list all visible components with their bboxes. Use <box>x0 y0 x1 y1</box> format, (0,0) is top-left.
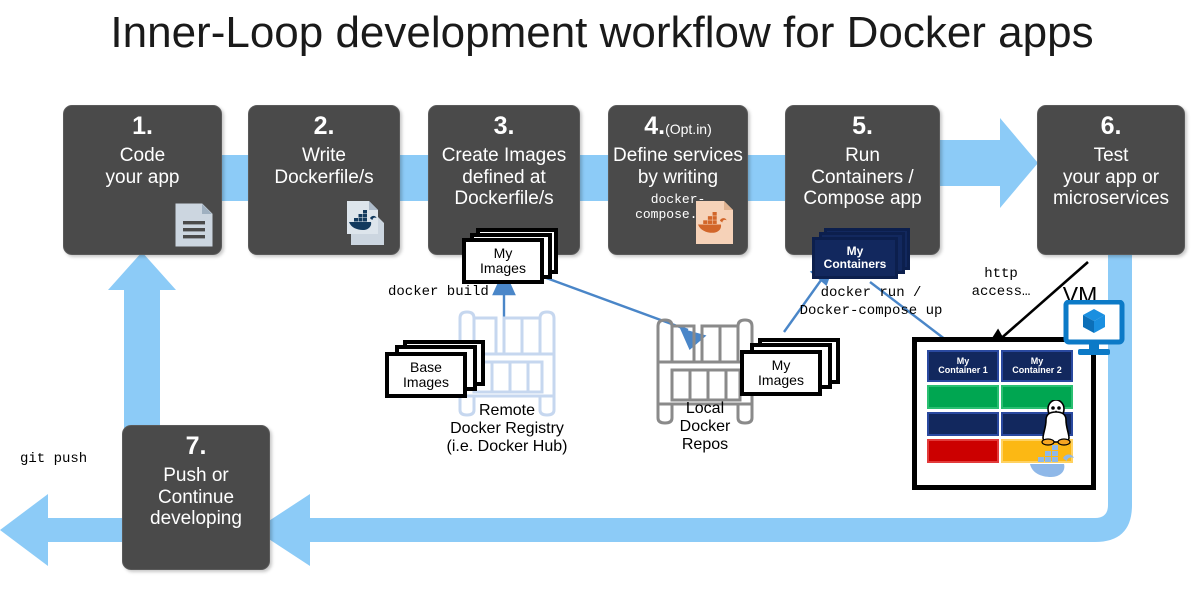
local-repos-label: Local Docker Repos <box>650 400 760 454</box>
step-7-line-2: Continue <box>150 487 242 508</box>
my-images-local-line-1: My <box>758 358 804 373</box>
my-images-top-line-1: My <box>480 246 526 261</box>
step-1-line-1: Code <box>106 145 180 166</box>
local-repos-line-3: Repos <box>650 436 760 454</box>
http-access-label: http access… <box>955 265 1047 301</box>
vm-container-1-bar-1 <box>927 385 999 409</box>
connector-git-push-arrow <box>0 494 125 566</box>
step-3-line-2: defined at <box>442 167 567 188</box>
step-3-body: Create Images defined at Dockerfile/s <box>442 145 567 209</box>
step-box-2[interactable]: 2. Write Dockerfile/s <box>248 105 400 255</box>
my-containers-line-2: Containers <box>824 258 887 271</box>
base-images-label: Base Images <box>385 352 467 398</box>
step-box-7[interactable]: 7. Push or Continue developing <box>122 425 270 570</box>
step-7-line-1: Push or <box>150 465 242 486</box>
step-box-6[interactable]: 6. Test your app or microservices <box>1037 105 1185 255</box>
remote-registry-label: Remote Docker Registry (i.e. Docker Hub) <box>432 402 582 456</box>
connector-3-4 <box>580 155 608 201</box>
step-5-line-3: Compose app <box>803 188 921 209</box>
step-6-line-1: Test <box>1053 145 1169 166</box>
base-images-line-1: Base <box>403 360 449 375</box>
step-2-line-1: Write <box>274 145 373 166</box>
step-3-line-3: Dockerfile/s <box>442 188 567 209</box>
step-2-body: Write Dockerfile/s <box>274 145 373 188</box>
step-4-optin-label: (Opt.in) <box>665 121 712 137</box>
my-images-top-line-2: Images <box>480 261 526 276</box>
connector-arrow-5-6 <box>940 118 1038 208</box>
step-6-line-2: your app or <box>1053 167 1169 188</box>
my-images-top-label: My Images <box>462 238 544 284</box>
local-repos-line-2: Docker <box>650 418 760 436</box>
my-images-stack-top[interactable]: My Images <box>462 228 558 288</box>
vm-container-2-line-2: Container 2 <box>1003 366 1071 375</box>
remote-registry-line-2: Docker Registry <box>432 420 582 438</box>
docker-whale-icon <box>1030 445 1082 481</box>
step-4-line-1: Define services <box>613 145 743 166</box>
step-6-body: Test your app or microservices <box>1053 145 1169 209</box>
step-7-body: Push or Continue developing <box>150 465 242 529</box>
step-box-4[interactable]: 4.(Opt.in) Define services by writing do… <box>608 105 748 255</box>
remote-registry-line-1: Remote <box>432 402 582 420</box>
step-4-body: Define services by writing <box>613 145 743 188</box>
local-repos-line-1: Local <box>650 400 760 418</box>
connector-2-3 <box>400 155 428 201</box>
my-containers-stack[interactable]: My Containers <box>812 228 916 284</box>
step-2-number: 2. <box>314 113 335 139</box>
document-icon <box>172 201 216 249</box>
step-5-number: 5. <box>852 113 873 139</box>
step-4-number-value: 4. <box>644 112 665 140</box>
connector-arrow-7-1 <box>108 252 176 430</box>
step-2-line-2: Dockerfile/s <box>274 167 373 188</box>
remote-registry-line-3: (i.e. Docker Hub) <box>432 438 582 456</box>
step-7-line-3: developing <box>150 508 242 529</box>
git-push-label: git push <box>20 450 132 468</box>
base-images-stack[interactable]: Base Images <box>385 340 485 402</box>
step-4-line-2: by writing <box>613 167 743 188</box>
step-6-line-3: microservices <box>1053 188 1169 209</box>
docker-run-label: docker run / Docker-compose up <box>786 284 956 320</box>
step-1-body: Code your app <box>106 145 180 188</box>
step-box-1[interactable]: 1. Code your app <box>63 105 222 255</box>
step-7-number: 7. <box>186 433 207 459</box>
docker-build-label: docker build <box>388 283 498 301</box>
step-4-number: 4.(Opt.in) <box>644 113 712 139</box>
step-5-line-2: Containers / <box>803 167 921 188</box>
step-1-line-2: your app <box>106 167 180 188</box>
base-images-line-2: Images <box>403 375 449 390</box>
docker-file-icon <box>345 198 395 248</box>
step-3-line-1: Create Images <box>442 145 567 166</box>
vm-container-2-header: My Container 2 <box>1001 350 1073 382</box>
step-5-line-1: Run <box>803 145 921 166</box>
step-6-number: 6. <box>1101 113 1122 139</box>
vm-container-1-bar-3 <box>927 439 999 463</box>
connector-1-2 <box>222 155 250 201</box>
linux-penguin-icon <box>1035 400 1077 446</box>
vm-container-1-line-2: Container 1 <box>929 366 997 375</box>
step-3-number: 3. <box>494 113 515 139</box>
docker-compose-icon <box>693 198 739 246</box>
step-1-number: 1. <box>132 113 153 139</box>
step-5-body: Run Containers / Compose app <box>803 145 921 209</box>
connector-4-5 <box>748 155 786 201</box>
my-images-local-label: My Images <box>740 350 822 396</box>
my-containers-label: My Containers <box>812 237 898 279</box>
my-images-local-line-2: Images <box>758 373 804 388</box>
vm-container-1-header: My Container 1 <box>927 350 999 382</box>
vm-container-1-bar-2 <box>927 412 999 436</box>
my-images-stack-local[interactable]: My Images <box>740 338 840 400</box>
